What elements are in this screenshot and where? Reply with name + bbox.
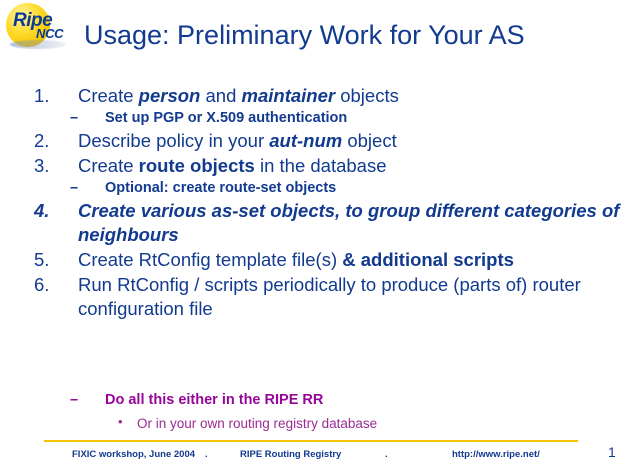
list-item-number: 1. — [34, 84, 49, 108]
text-run: Create — [78, 155, 139, 176]
text-run: in the database — [255, 155, 387, 176]
list-item: 3.Create route objects in the database — [0, 154, 630, 178]
list-item-text: Describe policy in your aut-num object — [78, 130, 397, 151]
text-run: and — [200, 85, 241, 106]
list-item-number: 5. — [34, 248, 49, 272]
logo-ncc-text: NCC — [36, 27, 63, 40]
text-run: Run RtConfig / scripts periodically to p… — [78, 274, 581, 319]
text-run: person — [139, 85, 201, 106]
purple-bullet-text: Or in your own routing registry database — [137, 416, 377, 431]
footer-divider — [44, 440, 578, 442]
purple-bullet-line: • Or in your own routing registry databa… — [0, 415, 630, 433]
list-item-number: 3. — [34, 154, 49, 178]
text-run: Create — [78, 85, 139, 106]
list-item-text: Run RtConfig / scripts periodically to p… — [78, 274, 581, 319]
sub-list-item: –Optional: create route-set objects — [0, 179, 630, 198]
list-item-text: Create person and maintainer objects — [78, 85, 399, 106]
sub-list-item-text: Optional: create route-set objects — [105, 180, 336, 196]
purple-note-block: – Do all this either in the RIPE RR • Or… — [0, 391, 630, 432]
slide-footer: FIXIC workshop, June 2004 . RIPE Routing… — [0, 449, 630, 467]
footer-event: FIXIC workshop, June 2004 — [72, 449, 195, 460]
logo-shadow — [10, 40, 66, 49]
list-item-number: 4. — [34, 199, 49, 223]
text-run: Create various as-set objects, to group … — [78, 200, 619, 245]
purple-dash-text: Do all this either in the RIPE RR — [105, 392, 323, 408]
sub-list-item: –Set up PGP or X.509 authentication — [0, 109, 630, 128]
content-list: 1.Create person and maintainer objects–S… — [0, 84, 630, 322]
text-run: route objects — [139, 155, 255, 176]
text-run: & additional scripts — [342, 249, 514, 270]
text-run: maintainer — [242, 85, 336, 106]
footer-separator-2: . — [385, 449, 388, 460]
list-item-text: Create route objects in the database — [78, 155, 387, 176]
footer-separator-1: . — [205, 449, 208, 460]
slide-canvas: Ripe NCC Usage: Preliminary Work for You… — [0, 0, 630, 472]
list-item: 1.Create person and maintainer objects — [0, 84, 630, 108]
footer-url[interactable]: http://www.ripe.net/ — [452, 449, 540, 460]
page-number: 1 — [608, 444, 616, 460]
ripe-ncc-logo: Ripe NCC — [4, 2, 76, 52]
round-bullet-icon: • — [118, 414, 123, 431]
list-item-text: Create RtConfig template file(s) & addit… — [78, 249, 514, 270]
list-item: 2.Describe policy in your aut-num object — [0, 129, 630, 153]
list-item: 4.Create various as-set objects, to grou… — [0, 199, 630, 247]
sub-list-item-text: Set up PGP or X.509 authentication — [105, 110, 347, 126]
list-item-text: Create various as-set objects, to group … — [78, 200, 619, 245]
text-run: object — [342, 130, 397, 151]
list-item-number: 2. — [34, 129, 49, 153]
list-item-number: 6. — [34, 273, 49, 297]
dash-bullet-icon: – — [70, 391, 78, 410]
text-run: Create RtConfig template file(s) — [78, 249, 342, 270]
slide-title: Usage: Preliminary Work for Your AS — [84, 20, 604, 51]
dash-bullet-icon: – — [70, 109, 78, 128]
footer-topic: RIPE Routing Registry — [240, 449, 341, 460]
text-run: objects — [335, 85, 399, 106]
list-item: 5.Create RtConfig template file(s) & add… — [0, 248, 630, 272]
list-item: 6.Run RtConfig / scripts periodically to… — [0, 273, 630, 321]
text-run: aut-num — [269, 130, 342, 151]
text-run: Describe policy in your — [78, 130, 269, 151]
purple-dash-line: – Do all this either in the RIPE RR — [0, 391, 630, 410]
dash-bullet-icon: – — [70, 179, 78, 198]
